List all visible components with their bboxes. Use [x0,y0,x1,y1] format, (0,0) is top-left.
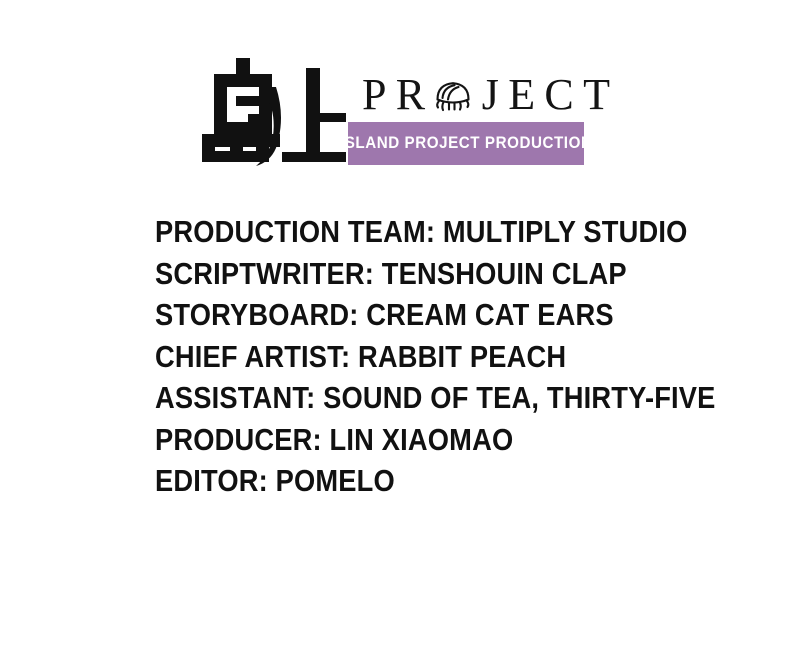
credit-line: SCRIPTWRITER: TENSHOUIN CLAP [155,253,683,295]
wordmark-letter-p: P [362,73,386,117]
credit-line: CHIEF ARTIST: RABBIT PEACH [155,336,683,378]
project-wordmark: P R [362,70,610,120]
tagline-banner: ISLAND PROJECT PRODUCTION [348,122,584,165]
credit-line: PRODUCTION TEAM: MULTIPLY STUDIO [155,211,683,253]
island-above-characters-icon [200,56,348,168]
credit-line: EDITOR: POMELO [155,460,683,502]
tagline-text: ISLAND PROJECT PRODUCTION [340,135,592,152]
logo-right-block: P R [348,56,610,168]
wordmark-letter-t: T [583,73,610,117]
wordmark-letter-j: J [482,73,499,117]
credit-line: STORYBOARD: CREAM CAT EARS [155,294,683,336]
wordmark-letter-c: C [544,73,573,117]
credit-line: ASSISTANT: SOUND OF TEA, THIRTY-FIVE [155,377,683,419]
wordmark-letter-r: R [396,73,425,117]
wordmark-letter-e: E [508,73,535,117]
credits-list: PRODUCTION TEAM: MULTIPLY STUDIO SCRIPTW… [155,211,755,502]
credits-page: P R [0,0,800,648]
jellyfish-icon [433,78,473,114]
credit-line: PRODUCER: LIN XIAOMAO [155,419,683,461]
logo-lockup: P R [200,56,610,168]
